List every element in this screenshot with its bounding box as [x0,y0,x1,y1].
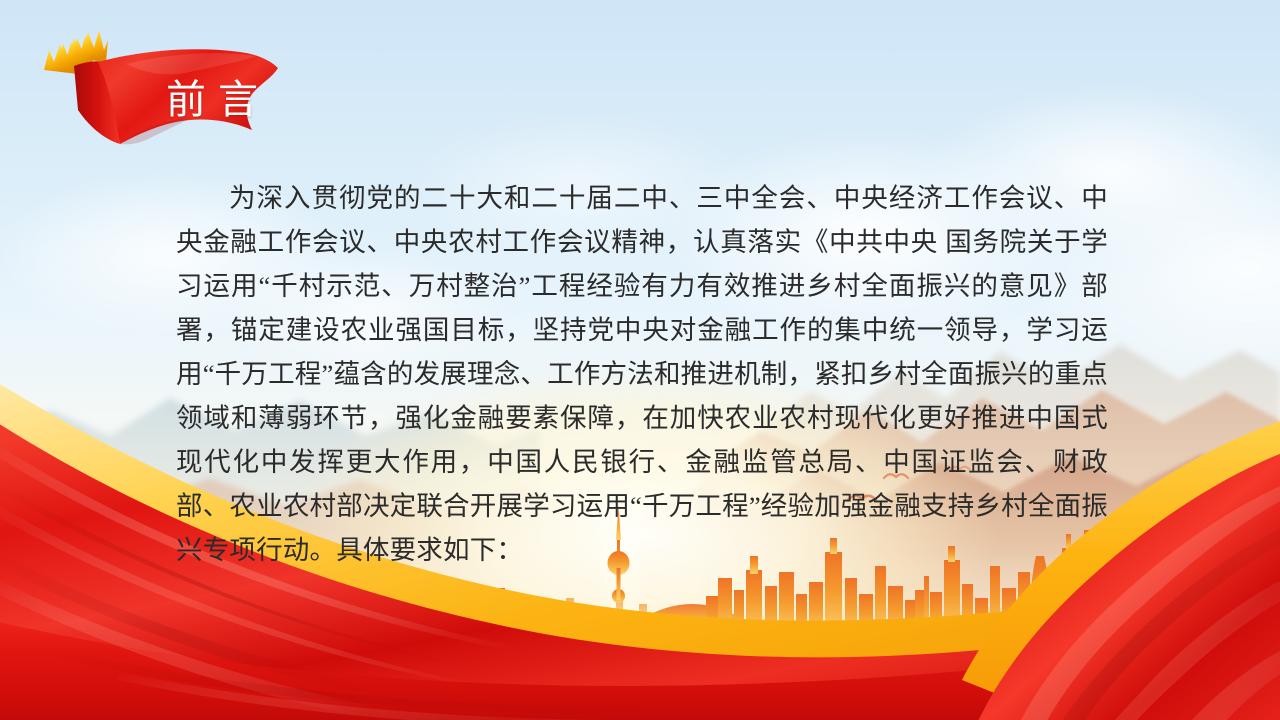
presentation-slide: 前言 为深入贯彻党的二十大和二十届二中、三中全会、中央经济工作会议、中央金融工作… [0,0,1280,720]
page-title: 前言 [142,80,282,120]
title-flag-banner: 前言 [34,18,284,150]
preface-paragraph: 为深入贯彻党的二十大和二十届二中、三中全会、中央经济工作会议、中央金融工作会议、… [176,176,1108,572]
preface-body-text: 为深入贯彻党的二十大和二十届二中、三中全会、中央经济工作会议、中央金融工作会议、… [176,176,1108,572]
